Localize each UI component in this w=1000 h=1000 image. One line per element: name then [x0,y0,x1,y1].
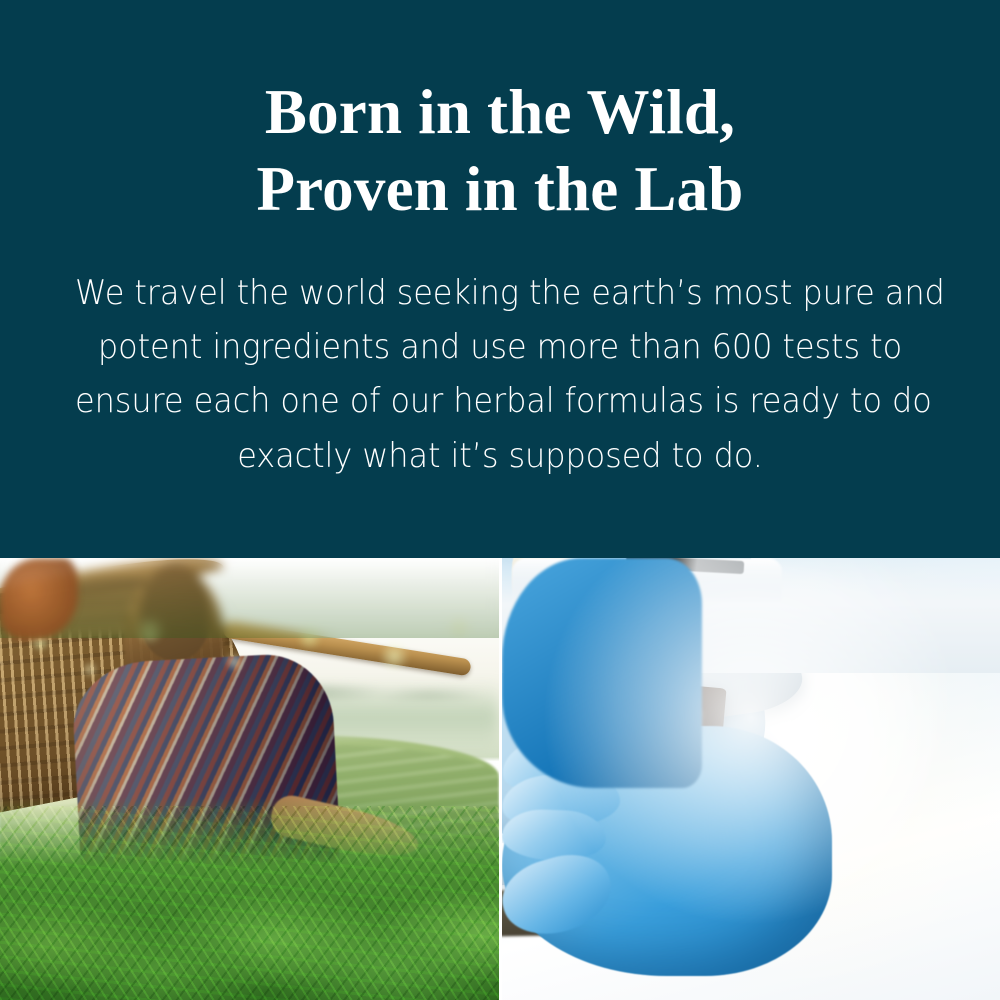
tea-harvest-photo [0,558,499,1000]
hero-panel: Born in the Wild, Proven in the Lab We t… [0,0,1000,558]
brand-banner: Born in the Wild, Proven in the Lab We t… [0,0,1000,1000]
subcopy-line-1: We travel the world seeking the earth’s … [75,266,925,320]
subcopy-line-4: exactly what it’s supposed to do. [75,429,925,483]
subcopy-line-3: ensure each one of our herbal formulas i… [75,374,925,428]
lens-flare-wash [502,558,1000,1000]
hero-subcopy: We travel the world seeking the earth’s … [75,266,925,483]
photo-strip [0,558,1000,1000]
laboratory-microscope-photo [502,558,1000,1000]
leaf-texture [0,806,499,1000]
page-title: Born in the Wild, Proven in the Lab [50,74,950,228]
headline-line-1: Born in the Wild, [50,74,950,151]
subcopy-line-2: potent ingredients and use more than 600… [75,320,925,374]
headline-line-2: Proven in the Lab [50,151,950,228]
